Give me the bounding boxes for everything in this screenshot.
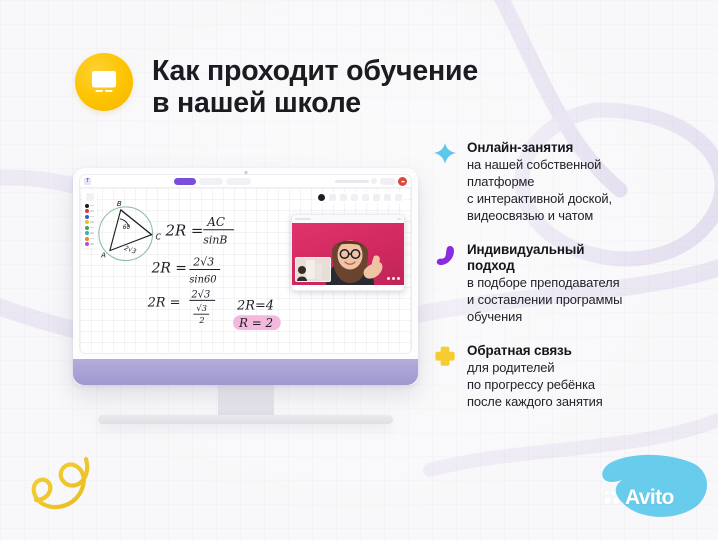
video-main-feed: [292, 223, 404, 285]
whiteboard-canvas[interactable]: B A C 60 2√3 2R = AC sinB 2R = 2: [80, 188, 411, 354]
feature-heading: Обратная связь: [467, 343, 704, 359]
svg-text:60: 60: [123, 224, 131, 231]
camera-toggle-button[interactable]: [380, 178, 396, 185]
feature-body: для родителей по прогрессу ребёнка после…: [467, 360, 704, 410]
slide-header: Как проходит обучение в нашей школе: [75, 53, 478, 120]
svg-text:√3: √3: [196, 303, 207, 313]
svg-text:B: B: [117, 199, 122, 208]
feature-body: на нашей собственной платформе с интерак…: [467, 157, 704, 224]
circumscribed-circle: [99, 207, 153, 261]
video-panel-titlebar: [292, 215, 404, 223]
final-answer-highlight: R = 2: [233, 315, 281, 330]
feature-heading: Индивидуальный подход: [467, 242, 704, 275]
svg-text:sin60: sin60: [189, 274, 216, 285]
slide-canvas: Как проходит обучение в нашей школе T: [0, 0, 718, 540]
session-label: [335, 180, 369, 183]
student-pip-video[interactable]: [295, 257, 331, 282]
star-bullet-icon: [432, 140, 457, 168]
svg-text:2R =: 2R =: [164, 222, 203, 240]
monitor-stand-neck: [218, 385, 274, 415]
video-panel-collapse-icon: [397, 218, 401, 220]
feature-body: в подборе преподавателя и составлении пр…: [467, 275, 704, 325]
settings-icon[interactable]: [371, 178, 377, 184]
feature-text: Обратная связь для родителей по прогресс…: [467, 343, 704, 411]
tab-second[interactable]: [199, 178, 223, 185]
monitor-glyph: [89, 69, 119, 95]
svg-text:2R =: 2R =: [147, 295, 181, 310]
svg-text:2R=4: 2R=4: [236, 298, 274, 313]
svg-text:AC: AC: [206, 215, 225, 229]
formula-steps: 2R = AC sinB 2R = 2√3 sin60 2R = 2√3 √3 …: [147, 215, 274, 325]
svg-text:R = 2: R = 2: [238, 316, 273, 330]
crescent-bullet-icon: [432, 242, 457, 270]
tab-third[interactable]: [226, 178, 251, 185]
monitor-stand-base: [98, 415, 393, 424]
end-call-icon[interactable]: [398, 177, 407, 186]
list-item: Обратная связь для родителей по прогресс…: [432, 343, 704, 411]
plus-bullet-icon: [432, 343, 457, 371]
video-more-options-icon[interactable]: [387, 277, 400, 280]
video-call-panel[interactable]: [291, 214, 405, 291]
app-top-bar: T: [80, 175, 411, 188]
avito-watermark: Avito: [604, 487, 674, 508]
list-item: Онлайн-занятия на нашей собственной плат…: [432, 140, 704, 225]
monitor-chin: [73, 359, 418, 385]
svg-text:sinB: sinB: [203, 234, 227, 247]
avito-wordmark: Avito: [625, 487, 674, 508]
svg-text:2√3: 2√3: [192, 256, 214, 269]
video-panel-footer: [292, 285, 404, 290]
svg-text:2: 2: [198, 315, 204, 325]
svg-text:C: C: [156, 233, 162, 242]
svg-text:2√3: 2√3: [190, 289, 210, 300]
computer-illustration: T: [73, 168, 418, 424]
feature-text: Онлайн-занятия на нашей собственной плат…: [467, 140, 704, 225]
svg-text:A: A: [100, 251, 106, 260]
yellow-squiggle-decoration: [34, 459, 87, 507]
svg-text:2R =: 2R =: [151, 260, 187, 276]
app-logo: T: [84, 178, 91, 185]
list-item: Индивидуальный подход в подборе преподав…: [432, 242, 704, 326]
feature-heading: Онлайн-занятия: [467, 140, 704, 156]
feature-list: Онлайн-занятия на нашей собственной плат…: [432, 140, 704, 428]
feature-text: Индивидуальный подход в подборе преподав…: [467, 242, 704, 326]
app-session-controls: [335, 177, 408, 186]
app-tabs: [174, 178, 251, 185]
tab-active[interactable]: [174, 178, 196, 185]
svg-text:2√3: 2√3: [123, 244, 137, 256]
video-title-placeholder: [295, 218, 311, 220]
monitor-body: T: [73, 168, 418, 385]
monitor-icon: [75, 53, 133, 111]
monitor-screen: T: [79, 174, 412, 354]
page-title: Как проходит обучение в нашей школе: [152, 53, 478, 120]
avito-logo-dots: [604, 490, 621, 506]
